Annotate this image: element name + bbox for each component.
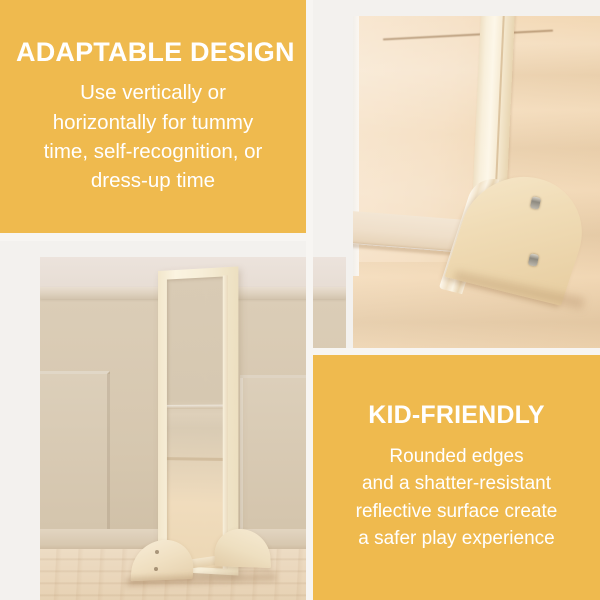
panel-adaptable-design: ADAPTABLE DESIGN Use vertically or horiz… bbox=[0, 0, 306, 233]
kidfriendly-body: Rounded edges and a shatter-resistant re… bbox=[319, 443, 594, 553]
adaptable-body-line-3: time, self-recognition, or bbox=[14, 137, 292, 166]
mirror-inner-stile bbox=[223, 275, 228, 569]
adaptable-body-line-2: horizontally for tummy bbox=[14, 108, 292, 137]
adaptable-body: Use vertically or horizontally for tummy… bbox=[14, 78, 292, 194]
gutter-horizontal-right bbox=[313, 348, 600, 355]
screw-icon-foot-lower bbox=[154, 567, 158, 571]
photo-standing-mirror-room bbox=[40, 257, 346, 600]
kidfriendly-body-line-1: Rounded edges bbox=[319, 443, 594, 471]
adaptable-headline: ADAPTABLE DESIGN bbox=[16, 38, 306, 66]
kidfriendly-body-line-3: reflective surface create bbox=[319, 498, 594, 526]
mirror-glass-reflected-rail bbox=[167, 405, 226, 409]
adaptable-body-line-4: dress-up time bbox=[14, 166, 292, 195]
photo-mirror-base-closeup bbox=[353, 16, 600, 364]
feature-collage: ADAPTABLE DESIGN Use vertically or horiz… bbox=[0, 0, 600, 600]
kidfriendly-headline: KID-FRIENDLY bbox=[313, 402, 600, 428]
kidfriendly-body-line-4: a safer play experience bbox=[319, 525, 594, 553]
screw-icon-foot-upper bbox=[155, 550, 159, 554]
mirror-glass-reflected-floorline bbox=[167, 457, 226, 461]
gutter-vertical bbox=[306, 0, 313, 600]
adaptable-body-line-1: Use vertically or bbox=[14, 78, 292, 107]
panel-kid-friendly: KID-FRIENDLY Rounded edges and a shatter… bbox=[313, 355, 600, 600]
standing-mirror bbox=[158, 266, 238, 575]
mirror-glass bbox=[167, 276, 226, 568]
kidfriendly-body-line-2: and a shatter-resistant bbox=[319, 470, 594, 498]
gutter-horizontal-left bbox=[0, 233, 306, 241]
